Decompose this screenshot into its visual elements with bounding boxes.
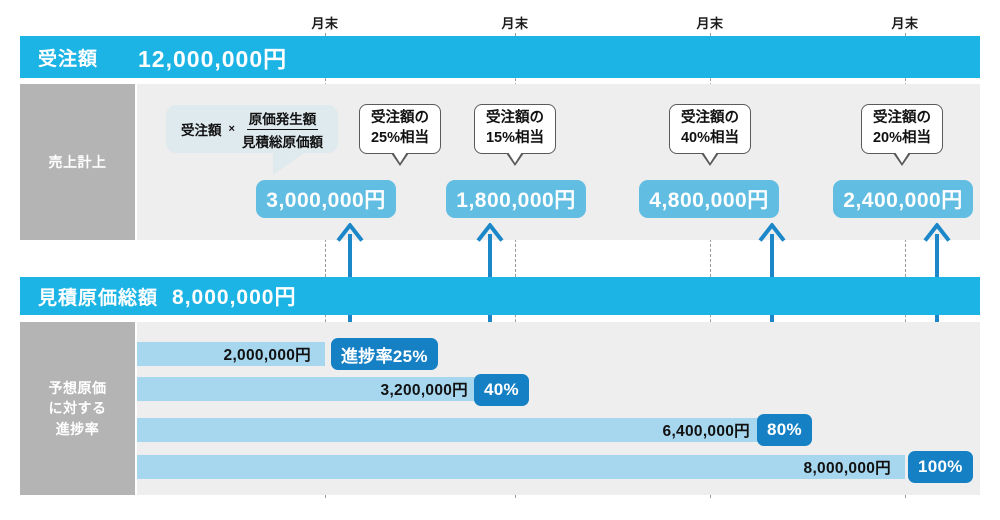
progress-bar-1: 2,000,000円 (137, 342, 325, 366)
sales-row-label: 売上計上 (20, 84, 135, 240)
progress-bar-4: 8,000,000円 (137, 455, 905, 479)
sales-note-text-1: 受注額の 25%相当 (371, 109, 429, 148)
bubble-tail-3 (701, 153, 719, 166)
month-end-label-1: 月末 (311, 13, 338, 32)
sales-note-text-3: 受注額の 40%相当 (681, 109, 739, 148)
progress-badge-3: 80% (757, 414, 812, 446)
formula-fraction: 原価発生額 見積総原価額 (242, 108, 323, 151)
progress-badge-2: 40% (474, 374, 529, 406)
sales-note-bubble-4: 受注額の 20%相当 (861, 104, 943, 154)
order-amount-header: 受注額 12,000,000円 (20, 36, 980, 78)
progress-badge-4: 100% (908, 451, 973, 483)
month-end-label-2: 月末 (501, 13, 528, 32)
sales-note-text-4: 受注額の 20%相当 (873, 109, 931, 148)
sales-amount-chip-2: 1,800,000円 (446, 180, 586, 218)
formula-denominator: 見積総原価額 (242, 130, 323, 151)
estimated-cost-label: 見積原価総額 (38, 283, 158, 310)
progress-bar-2: 3,200,000円 (137, 377, 482, 401)
progress-bar-value-4: 8,000,000円 (804, 456, 891, 478)
estimated-cost-value: 8,000,000円 (172, 281, 296, 311)
progress-row-label-text: 予想原価 に対する 進捗率 (49, 378, 107, 439)
month-end-label-3: 月末 (696, 13, 723, 32)
sales-note-bubble-2: 受注額の 15%相当 (474, 104, 556, 154)
formula-bubble: 受注額 × 原価発生額 見積総原価額 (166, 105, 338, 153)
estimated-cost-header: 見積原価総額 8,000,000円 (20, 277, 980, 315)
diagram-canvas: 月末 月末 月末 月末 受注額 12,000,000円 売上計上 受注額 × 原… (0, 0, 1000, 520)
formula-numerator: 原価発生額 (247, 108, 319, 130)
order-amount-value: 12,000,000円 (138, 40, 287, 74)
sales-note-text-2: 受注額の 15%相当 (486, 109, 544, 148)
order-amount-label: 受注額 (38, 44, 98, 71)
bubble-tail-1 (391, 153, 409, 166)
sales-amount-chip-3: 4,800,000円 (639, 180, 779, 218)
sales-note-bubble-3: 受注額の 40%相当 (669, 104, 751, 154)
sales-note-bubble-1: 受注額の 25%相当 (359, 104, 441, 154)
progress-row-label: 予想原価 に対する 進捗率 (20, 322, 135, 495)
progress-bar-3: 6,400,000円 (137, 418, 764, 442)
formula-term: 受注額 (181, 119, 222, 139)
progress-bar-value-2: 3,200,000円 (381, 378, 468, 400)
progress-bar-value-3: 6,400,000円 (663, 419, 750, 441)
bubble-tail-2 (506, 153, 524, 166)
progress-bar-value-1: 2,000,000円 (224, 343, 311, 365)
bubble-tail-4 (893, 153, 911, 166)
progress-badge-1: 進捗率25% (331, 338, 438, 370)
sales-amount-chip-1: 3,000,000円 (256, 180, 396, 218)
sales-row-label-text: 売上計上 (49, 152, 107, 172)
formula-times-symbol: × (229, 123, 235, 135)
sales-amount-chip-4: 2,400,000円 (833, 180, 973, 218)
formula-bubble-tail (273, 151, 307, 175)
month-end-label-4: 月末 (891, 13, 918, 32)
